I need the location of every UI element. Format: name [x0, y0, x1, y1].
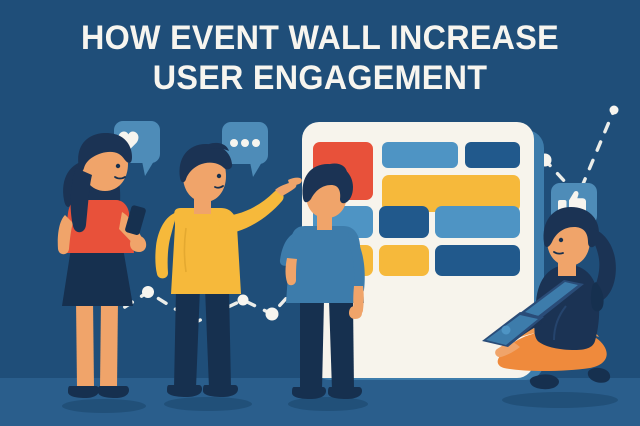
- laptop-camera-dot: [502, 326, 511, 335]
- man-pointing: [155, 143, 301, 397]
- shadow-man-wall: [288, 397, 368, 411]
- illustration-scene: HOW EVENT WALL INCREASE USER ENGAGEMENT: [0, 0, 640, 426]
- woman-with-phone: [58, 133, 147, 398]
- characters-layer: [0, 0, 640, 426]
- shadow-woman-phone: [62, 399, 146, 413]
- man-facing-wall: [280, 163, 365, 399]
- shadow-woman-laptop: [502, 392, 618, 408]
- woman-with-laptop: [482, 207, 616, 389]
- shadow-man-pointing: [164, 397, 252, 411]
